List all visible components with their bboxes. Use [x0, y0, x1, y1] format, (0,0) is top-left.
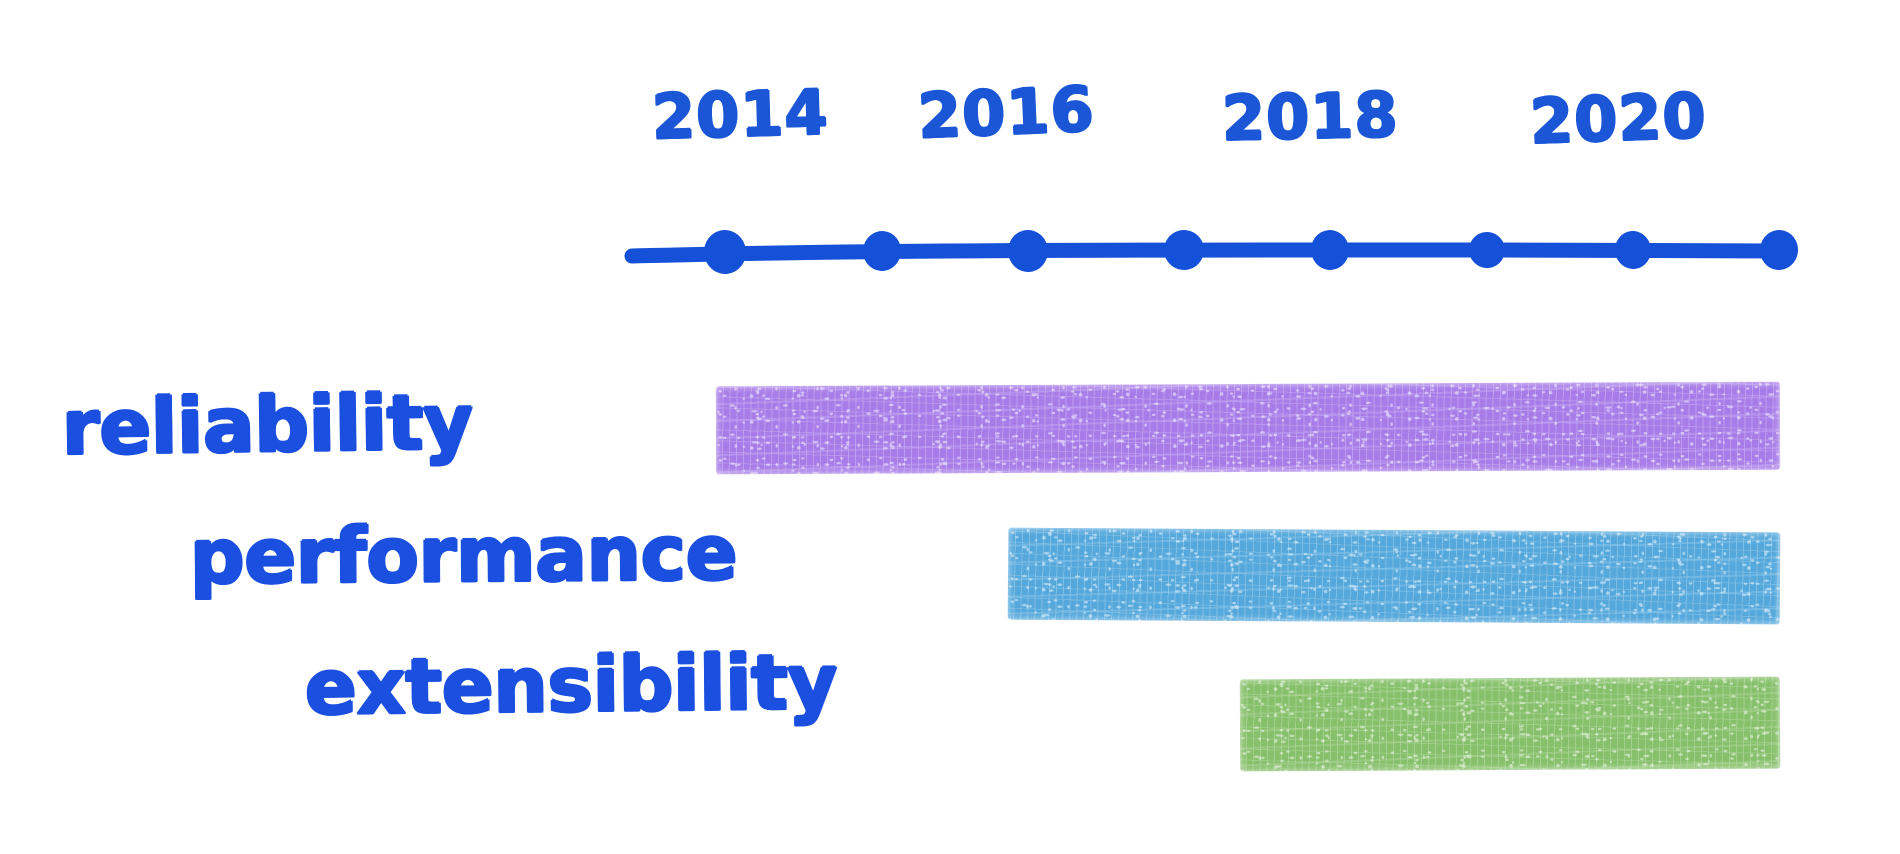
bar-performance[interactable] — [1008, 528, 1781, 625]
bar-streaks-reliability — [716, 382, 1780, 475]
timeline-chart: 2014 2016 2018 2020 reliability performa… — [0, 0, 1900, 854]
bar-streaks-performance — [1008, 528, 1781, 625]
bar-streaks-extensibility — [1240, 677, 1780, 772]
bar-extensibility[interactable] — [1240, 677, 1780, 772]
bar-group — [0, 0, 1900, 854]
bar-reliability[interactable] — [716, 382, 1780, 475]
